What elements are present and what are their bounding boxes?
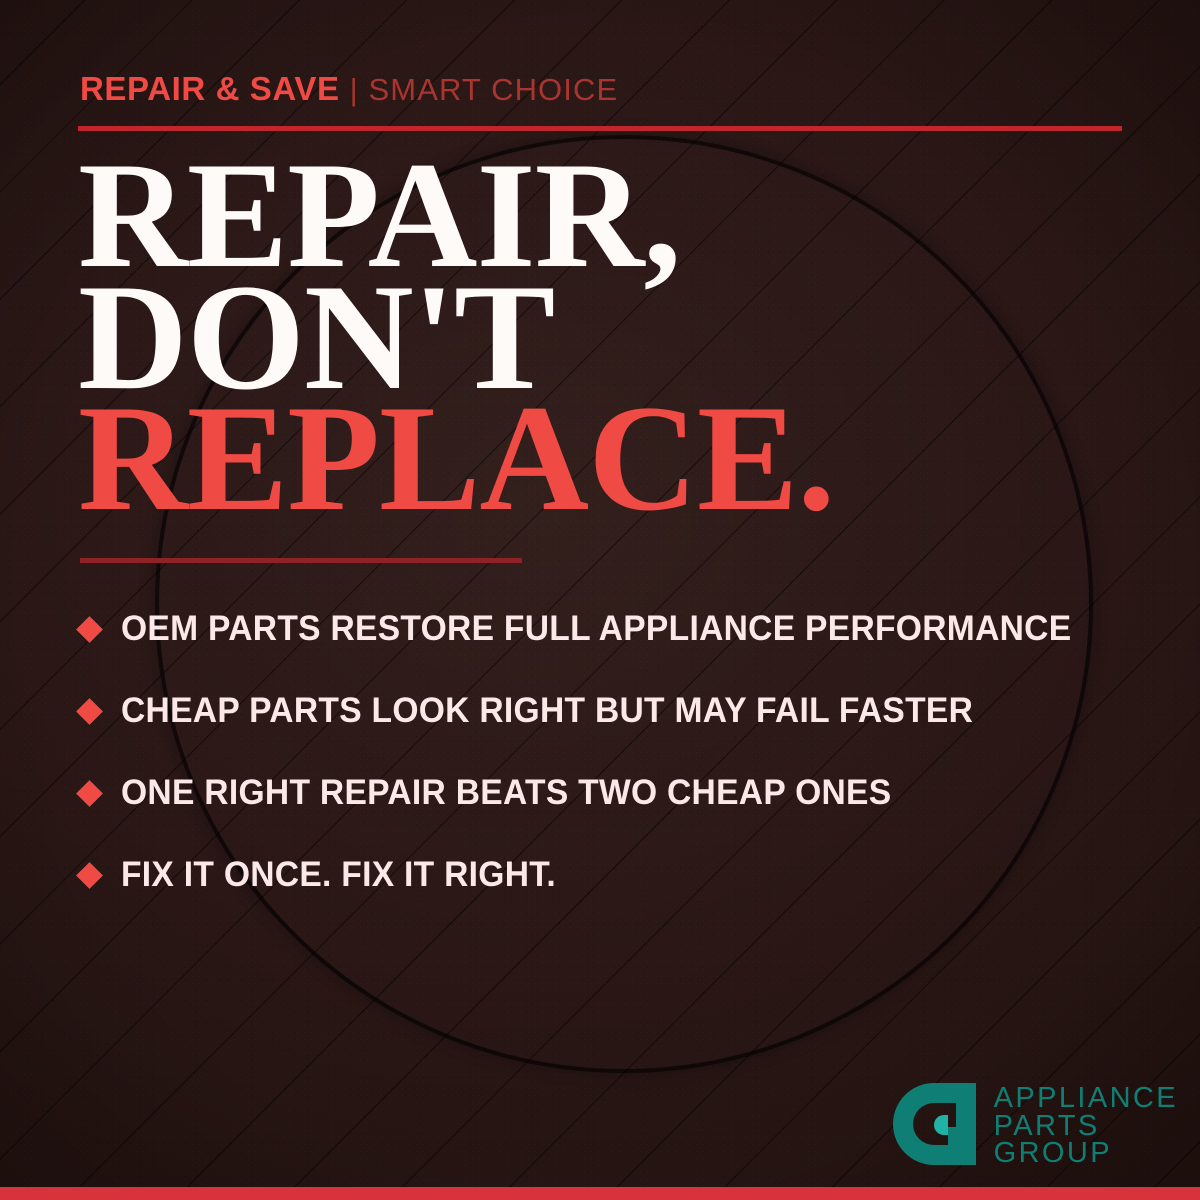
poster-content: REPAIR & SAVE| SMART CHOICE REPAIR, DON'… [0,0,1200,1200]
diamond-bullet-icon [76,780,103,807]
logo-word-line-1: APPLIANCE [994,1085,1178,1113]
logo-word-line-3: GROUP [994,1140,1178,1168]
page-title: REPAIR, DON'T REPLACE. [78,155,1128,520]
brand-logo: APPLIANCE PARTS GROUP [888,1081,1178,1172]
benefit-list: OEM PARTS RESTORE FULL APPLIANCE PERFORM… [80,588,1160,916]
list-item: ONE RIGHT REPAIR BEATS TWO CHEAP ONES [80,752,1160,834]
headline-line-3: REPLACE. [78,398,1128,520]
list-item-label: FIX IT ONCE. FIX IT RIGHT. [121,855,556,895]
list-item-label: ONE RIGHT REPAIR BEATS TWO CHEAP ONES [121,773,891,813]
list-item-label: OEM PARTS RESTORE FULL APPLIANCE PERFORM… [121,609,1071,649]
brand-logo-wordmark: APPLIANCE PARTS GROUP [994,1085,1178,1168]
eyebrow-header: REPAIR & SAVE| SMART CHOICE [80,72,618,105]
list-item: FIX IT ONCE. FIX IT RIGHT. [80,834,1160,916]
logo-word-line-2: PARTS [994,1113,1178,1141]
diamond-bullet-icon [76,698,103,725]
eyebrow-light-text: | SMART CHOICE [350,72,619,107]
headline-divider-rule [80,558,522,563]
list-item-label: CHEAP PARTS LOOK RIGHT BUT MAY FAIL FAST… [121,691,973,731]
eyebrow-strong-text: REPAIR & SAVE [80,70,340,107]
diamond-bullet-icon [76,616,103,643]
list-item: CHEAP PARTS LOOK RIGHT BUT MAY FAIL FAST… [80,670,1160,752]
diamond-bullet-icon [76,862,103,889]
g-monogram-icon [888,1081,980,1172]
bottom-accent-bar [0,1187,1200,1200]
list-item: OEM PARTS RESTORE FULL APPLIANCE PERFORM… [80,588,1160,670]
poster-canvas: REPAIR & SAVE| SMART CHOICE REPAIR, DON'… [0,0,1200,1200]
